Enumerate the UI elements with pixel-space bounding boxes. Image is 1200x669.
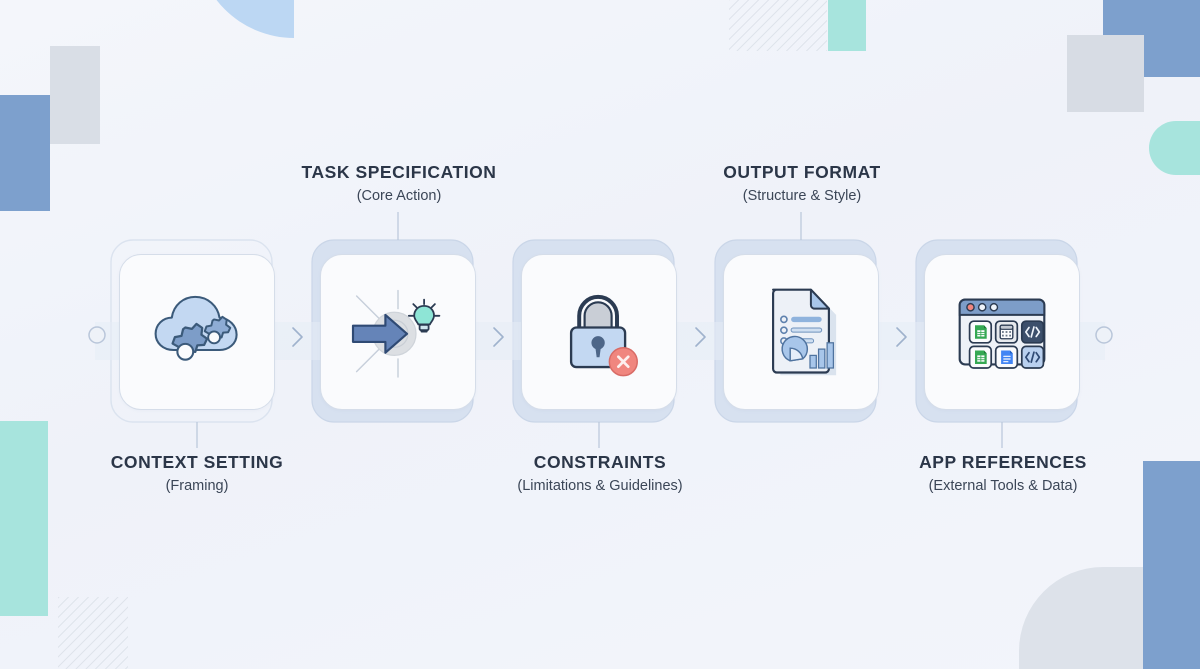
step-label-subtitle: (Limitations & Guidelines)	[450, 477, 750, 497]
step-label-title: CONSTRAINTS	[450, 452, 750, 474]
step-label-task-specification: TASK SPECIFICATION (Core Action)	[249, 162, 549, 206]
step-card-task-specification[interactable]	[320, 254, 476, 410]
step-label-title: CONTEXT SETTING	[47, 452, 347, 474]
step-label-subtitle: (Core Action)	[249, 187, 549, 207]
document-report-icon	[747, 278, 855, 386]
step-label-title: APP REFERENCES	[853, 452, 1153, 474]
pipeline-end-dot	[1096, 327, 1112, 343]
app-window-icons-icon	[948, 278, 1056, 386]
step-card-context-setting[interactable]	[119, 254, 275, 410]
cloud-gears-icon	[143, 278, 251, 386]
step-label-context-setting: CONTEXT SETTING (Framing)	[47, 452, 347, 496]
step-label-output-format: OUTPUT FORMAT (Structure & Style)	[652, 162, 952, 206]
step-card-output-format[interactable]	[723, 254, 879, 410]
step-label-subtitle: (Framing)	[47, 477, 347, 497]
pipeline-start-dot	[89, 327, 105, 343]
step-label-subtitle: (External Tools & Data)	[853, 477, 1153, 497]
step-card-constraints[interactable]	[521, 254, 677, 410]
step-label-constraints: CONSTRAINTS (Limitations & Guidelines)	[450, 452, 750, 496]
step-label-app-references: APP REFERENCES (External Tools & Data)	[853, 452, 1153, 496]
diagram-canvas: CONTEXT SETTING (Framing) TASK SPECIFICA…	[0, 0, 1200, 669]
step-label-subtitle: (Structure & Style)	[652, 187, 952, 207]
arrow-target-lightbulb-icon	[344, 278, 452, 386]
padlock-blocked-icon	[545, 278, 653, 386]
step-card-app-references[interactable]	[924, 254, 1080, 410]
step-label-title: TASK SPECIFICATION	[249, 162, 549, 184]
step-label-title: OUTPUT FORMAT	[652, 162, 952, 184]
